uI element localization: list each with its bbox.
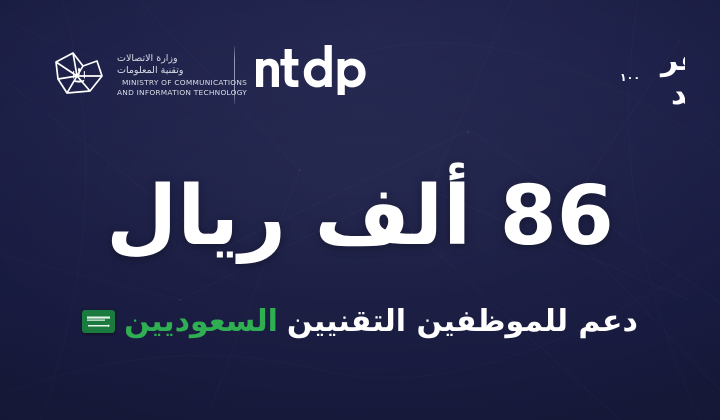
svg-text:لـواحد: لـواحد <box>671 77 685 108</box>
headline-amount: 86 ألف ريال <box>0 176 720 258</box>
banner-header: وزارة الاتصالات وتقنية المعلومات MINISTR… <box>0 0 720 140</box>
ministry-logo-lockup: وزارة الاتصالات وتقنية المعلومات MINISTR… <box>50 46 247 104</box>
ministry-emblem-icon <box>50 46 108 104</box>
subtitle-text-white: دعم للموظفين التقنيين <box>287 305 638 338</box>
ministry-arabic-line-1: وزارة الاتصالات <box>117 53 178 66</box>
ministry-wordmark: وزارة الاتصالات وتقنية المعلومات MINISTR… <box>117 53 247 98</box>
saudi-arabia-flag-icon <box>82 310 115 333</box>
zero-to-one-logo: صفر ١٠٠ لـواحد <box>575 34 685 108</box>
logo-divider <box>234 46 235 104</box>
ministry-arabic-line-2: وتقنية المعلومات <box>117 65 183 78</box>
ministry-english-line-1: MINISTRY OF COMMUNICATIONS <box>122 78 247 88</box>
svg-text:صفر: صفر <box>659 43 685 78</box>
ministry-english-line-2: AND INFORMATION TECHNOLOGY <box>117 88 247 98</box>
subtitle-row: دعم للموظفين التقنيين السعوديين <box>0 305 720 338</box>
subtitle-text-green: السعوديين <box>124 305 278 338</box>
ntdp-promo-banner: وزارة الاتصالات وتقنية المعلومات MINISTR… <box>0 0 720 420</box>
ntdp-logo <box>256 45 368 95</box>
svg-text:١٠٠: ١٠٠ <box>620 71 640 84</box>
